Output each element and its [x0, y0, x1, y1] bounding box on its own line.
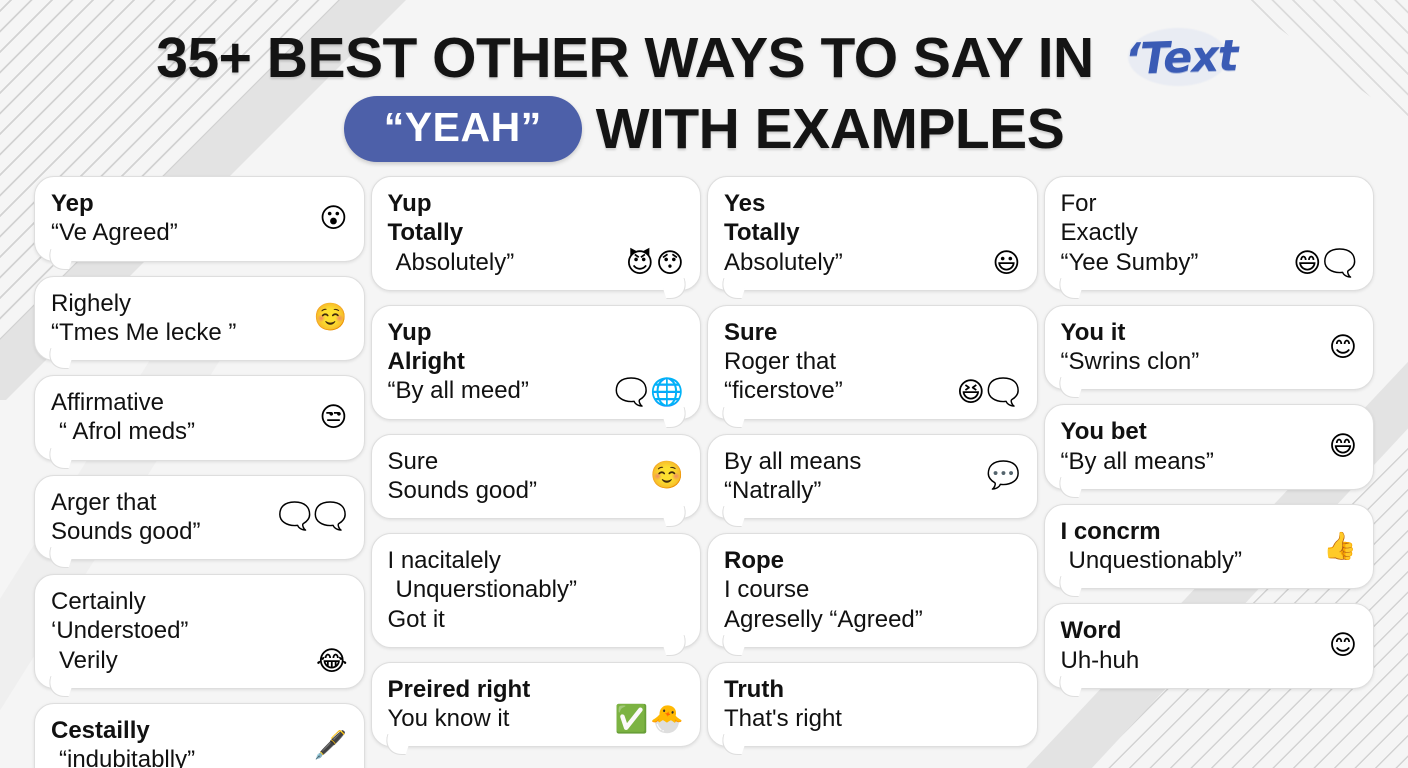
blue-surprised-emoji: 😯 [656, 250, 684, 277]
pen-emoji: 🖋️ [314, 732, 348, 759]
message-bubble[interactable]: ForExactly“Yee Sumby”😄🗨️ [1044, 176, 1375, 291]
bubble-title-line: Affirmative [51, 388, 195, 417]
message-bubble[interactable]: YupTotallyAbsolutely”😈😯 [371, 176, 702, 291]
bubble-text: YupTotallyAbsolutely” [388, 189, 515, 277]
bubble-title-line: Cestailly [51, 716, 195, 745]
bubble-title-line: For [1061, 189, 1199, 218]
bubble-text: TruthThat's right [724, 675, 842, 734]
logo-label: ‘Text [1125, 31, 1239, 85]
bubble-grid: Yep“Ve Agreed”😮Righely“Tmes Me lecke ”☺️… [0, 176, 1408, 768]
bubble-title-line: Yup [388, 189, 515, 218]
message-bubble[interactable]: Certainly‘Understoed” Verily😂 [34, 574, 365, 689]
bubble-body-line: “ Afrol meds” [51, 417, 195, 446]
message-bubble[interactable]: SureRoger that“ficerstove”😆🗨️ [707, 305, 1038, 420]
text-logo: ‘Text [1112, 26, 1252, 90]
bubble-text: Righely“Tmes Me lecke ” [51, 289, 236, 348]
smiling-face-emoji: 😊 [1329, 632, 1357, 659]
blue-globe-emoji: 🌐 [650, 379, 684, 406]
bubble-title-line: You it [1061, 318, 1200, 347]
bubble-body-line: You know it [388, 704, 531, 733]
bubble-text: YesTotallyAbsolutely” [724, 189, 843, 277]
bubble-body-line: Agreselly “Agreed” [724, 605, 923, 634]
grinning-face-emoji: 😄 [1329, 433, 1357, 460]
bubble-column-2: YupTotallyAbsolutely”😈😯YupAlright“By all… [371, 176, 702, 761]
bubble-body-line: Exactly [1061, 218, 1199, 247]
blue-grin-emoji: 😈 [626, 250, 654, 277]
blue-speech-bubble-emoji: 🗨️ [1323, 250, 1357, 277]
bubble-body-line: “indubitablly” [51, 745, 195, 768]
message-bubble[interactable]: SureSounds good”☺️ [371, 434, 702, 520]
bubble-body-line: Verily [51, 646, 188, 675]
bubble-title-line: By all means [724, 447, 861, 476]
blue-speech-bubble-emoji: 🗨️ [615, 379, 649, 406]
message-bubble[interactable]: RopeI courseAgreselly “Agreed” [707, 533, 1038, 648]
bubble-body-line: Absolutely” [388, 248, 515, 277]
emoji-group: 😃 [992, 250, 1020, 277]
page-title-line-2: WITH EXAMPLES [596, 99, 1065, 159]
bubble-body-line: Sounds good” [51, 517, 200, 546]
bubble-body-line: Alright [388, 347, 529, 376]
emoji-group: 😄🗨️ [1293, 250, 1357, 277]
emoji-group: ✅🐣 [615, 706, 684, 733]
bubble-body-line: Sounds good” [388, 476, 537, 505]
emoji-group: 😂 [316, 648, 348, 675]
bubble-title-line: Preired right [388, 675, 531, 704]
smiling-face-emoji: ☺️ [650, 462, 684, 489]
emoji-group: 😄 [1329, 433, 1357, 460]
emoji-group: 🗨️🌐 [615, 379, 684, 406]
message-bubble[interactable]: Affirmative“ Afrol meds”😒 [34, 375, 365, 461]
bubble-body-line: Roger that [724, 347, 843, 376]
joy-face-emoji: 😂 [316, 648, 348, 675]
blue-speech-bubble-emoji: 🗨️ [987, 379, 1021, 406]
header: 35+ BEST OTHER WAYS TO SAY IN ‘Text “YEA… [0, 0, 1408, 162]
yeah-badge: “YEAH” [344, 96, 582, 162]
bubble-body-line: That's right [724, 704, 842, 733]
emoji-group: 😊 [1329, 334, 1357, 361]
blue-laughing-emoji: 😆 [957, 379, 985, 406]
emoji-group: 😒 [319, 404, 347, 431]
smiling-face-emoji: 😊 [1329, 334, 1357, 361]
message-bubble[interactable]: I nacitalely Unquerstionably”Got it [371, 533, 702, 648]
emoji-group: 😮 [319, 205, 347, 232]
bubble-title-line: Sure [724, 318, 843, 347]
emoji-group: 💬 [987, 462, 1021, 489]
bubble-body-line: I course [724, 575, 923, 604]
bubble-title-line: Word [1061, 616, 1140, 645]
message-bubble[interactable]: You bet“By all means”😄 [1044, 404, 1375, 490]
message-bubble[interactable]: By all means“Natrally”💬 [707, 434, 1038, 520]
bubble-text: I concrmUnquestionably” [1061, 517, 1242, 576]
face-open-mouth-emoji: 😮 [319, 205, 347, 232]
bubble-title-line: Yep [51, 189, 178, 218]
bubble-text: Affirmative“ Afrol meds” [51, 388, 195, 447]
message-bubble[interactable]: Righely“Tmes Me lecke ”☺️ [34, 276, 365, 362]
emoji-group: 🗨️🗨️ [278, 503, 347, 530]
bubble-body-line: “Ve Agreed” [51, 218, 178, 247]
speech-bubble-emoji: 🗨️ [278, 503, 312, 530]
bubble-title-line: You bet [1061, 417, 1214, 446]
bubble-body-line: Absolutely” [724, 248, 843, 277]
bubble-text: WordUh-huh [1061, 616, 1140, 675]
bubble-body-line: Uh-huh [1061, 646, 1140, 675]
bubble-text: SureSounds good” [388, 447, 537, 506]
bubble-title-line: Certainly [51, 587, 188, 616]
bubble-text: By all means“Natrally” [724, 447, 861, 506]
bubble-body-line: “Swrins clon” [1061, 347, 1200, 376]
bubble-title-line: Sure [388, 447, 537, 476]
bubble-title-line: Righely [51, 289, 236, 318]
unamused-face-emoji: 😒 [319, 404, 347, 431]
bubble-body-line: “Yee Sumby” [1061, 248, 1199, 277]
message-bubble[interactable]: Preired rightYou know it✅🐣 [371, 662, 702, 748]
title-row-2: “YEAH” WITH EXAMPLES [0, 96, 1408, 162]
emoji-group: 😊 [1329, 632, 1357, 659]
message-bubble[interactable]: Arger thatSounds good”🗨️🗨️ [34, 475, 365, 561]
emoji-group: ☺️ [650, 462, 684, 489]
bubble-text: You it“Swrins clon” [1061, 318, 1200, 377]
message-bubble[interactable]: YesTotallyAbsolutely”😃 [707, 176, 1038, 291]
grinning-face-emoji: 😃 [992, 250, 1020, 277]
bubble-text: RopeI courseAgreselly “Agreed” [724, 546, 923, 634]
message-bubble[interactable]: Cestailly“indubitablly”🖋️ [34, 703, 365, 768]
emoji-group: 😆🗨️ [957, 379, 1021, 406]
message-bubble[interactable]: Yep“Ve Agreed”😮 [34, 176, 365, 262]
blue-check-emoji: ✅ [615, 706, 649, 733]
bubble-text: Cestailly“indubitablly” [51, 716, 195, 768]
thumbs-up-emoji: 👍 [1323, 533, 1357, 560]
bubble-title-line: Arger that [51, 488, 200, 517]
bubble-column-1: Yep“Ve Agreed”😮Righely“Tmes Me lecke ”☺️… [34, 176, 365, 768]
bubble-body-line: “Tmes Me lecke ” [51, 318, 236, 347]
bubble-text: YupAlright“By all meed” [388, 318, 529, 406]
message-bubble[interactable]: I concrmUnquestionably”👍 [1044, 504, 1375, 590]
bubble-body-line: “ficerstove” [724, 376, 843, 405]
bubble-text: Preired rightYou know it [388, 675, 531, 734]
speech-balloon-emoji: 💬 [987, 462, 1021, 489]
blue-smiling-emoji: 😄 [1293, 250, 1321, 277]
bubble-body-line: “By all meed” [388, 376, 529, 405]
bubble-text: SureRoger that“ficerstove” [724, 318, 843, 406]
message-bubble[interactable]: You it“Swrins clon”😊 [1044, 305, 1375, 391]
message-bubble[interactable]: YupAlright“By all meed”🗨️🌐 [371, 305, 702, 420]
page-title-line-1: 35+ BEST OTHER WAYS TO SAY IN [156, 28, 1093, 88]
message-bubble[interactable]: WordUh-huh😊 [1044, 603, 1375, 689]
bubble-text: Yep“Ve Agreed” [51, 189, 178, 248]
bubble-column-4: ForExactly“Yee Sumby”😄🗨️You it“Swrins cl… [1044, 176, 1375, 703]
bubble-body-line: ‘Understoed” [51, 616, 188, 645]
emoji-group: 😈😯 [626, 250, 684, 277]
bubble-body-line: Unquestionably” [1061, 546, 1242, 575]
smiling-face-emoji: ☺️ [314, 304, 348, 331]
bubble-title-line: Truth [724, 675, 842, 704]
speech-bubble-emoji: 🗨️ [314, 503, 348, 530]
bubble-body-line: “Natrally” [724, 476, 861, 505]
bubble-body-line: “By all means” [1061, 447, 1214, 476]
bubble-title-line: I nacitalely [388, 546, 577, 575]
bubble-title-line: Rope [724, 546, 923, 575]
bubble-text: Certainly‘Understoed” Verily [51, 587, 188, 675]
emoji-group: ☺️ [314, 304, 348, 331]
bubble-text: ForExactly“Yee Sumby” [1061, 189, 1199, 277]
message-bubble[interactable]: TruthThat's right [707, 662, 1038, 748]
bubble-text: You bet“By all means” [1061, 417, 1214, 476]
bubble-text: I nacitalely Unquerstionably”Got it [388, 546, 577, 634]
bubble-column-3: YesTotallyAbsolutely”😃SureRoger that“fic… [707, 176, 1038, 761]
bubble-body-line: Totally [388, 218, 515, 247]
title-row-1: 35+ BEST OTHER WAYS TO SAY IN ‘Text [0, 26, 1408, 90]
bubble-title-line: Yup [388, 318, 529, 347]
bubble-body-line: Got it [388, 605, 577, 634]
emoji-group: 🖋️ [314, 732, 348, 759]
bubble-body-line: Totally [724, 218, 843, 247]
emoji-group: 👍 [1323, 533, 1357, 560]
bubble-body-line: Unquerstionably” [388, 575, 577, 604]
bubble-title-line: Yes [724, 189, 843, 218]
blue-bird-emoji: 🐣 [650, 706, 684, 733]
bubble-title-line: I concrm [1061, 517, 1242, 546]
bubble-text: Arger thatSounds good” [51, 488, 200, 547]
